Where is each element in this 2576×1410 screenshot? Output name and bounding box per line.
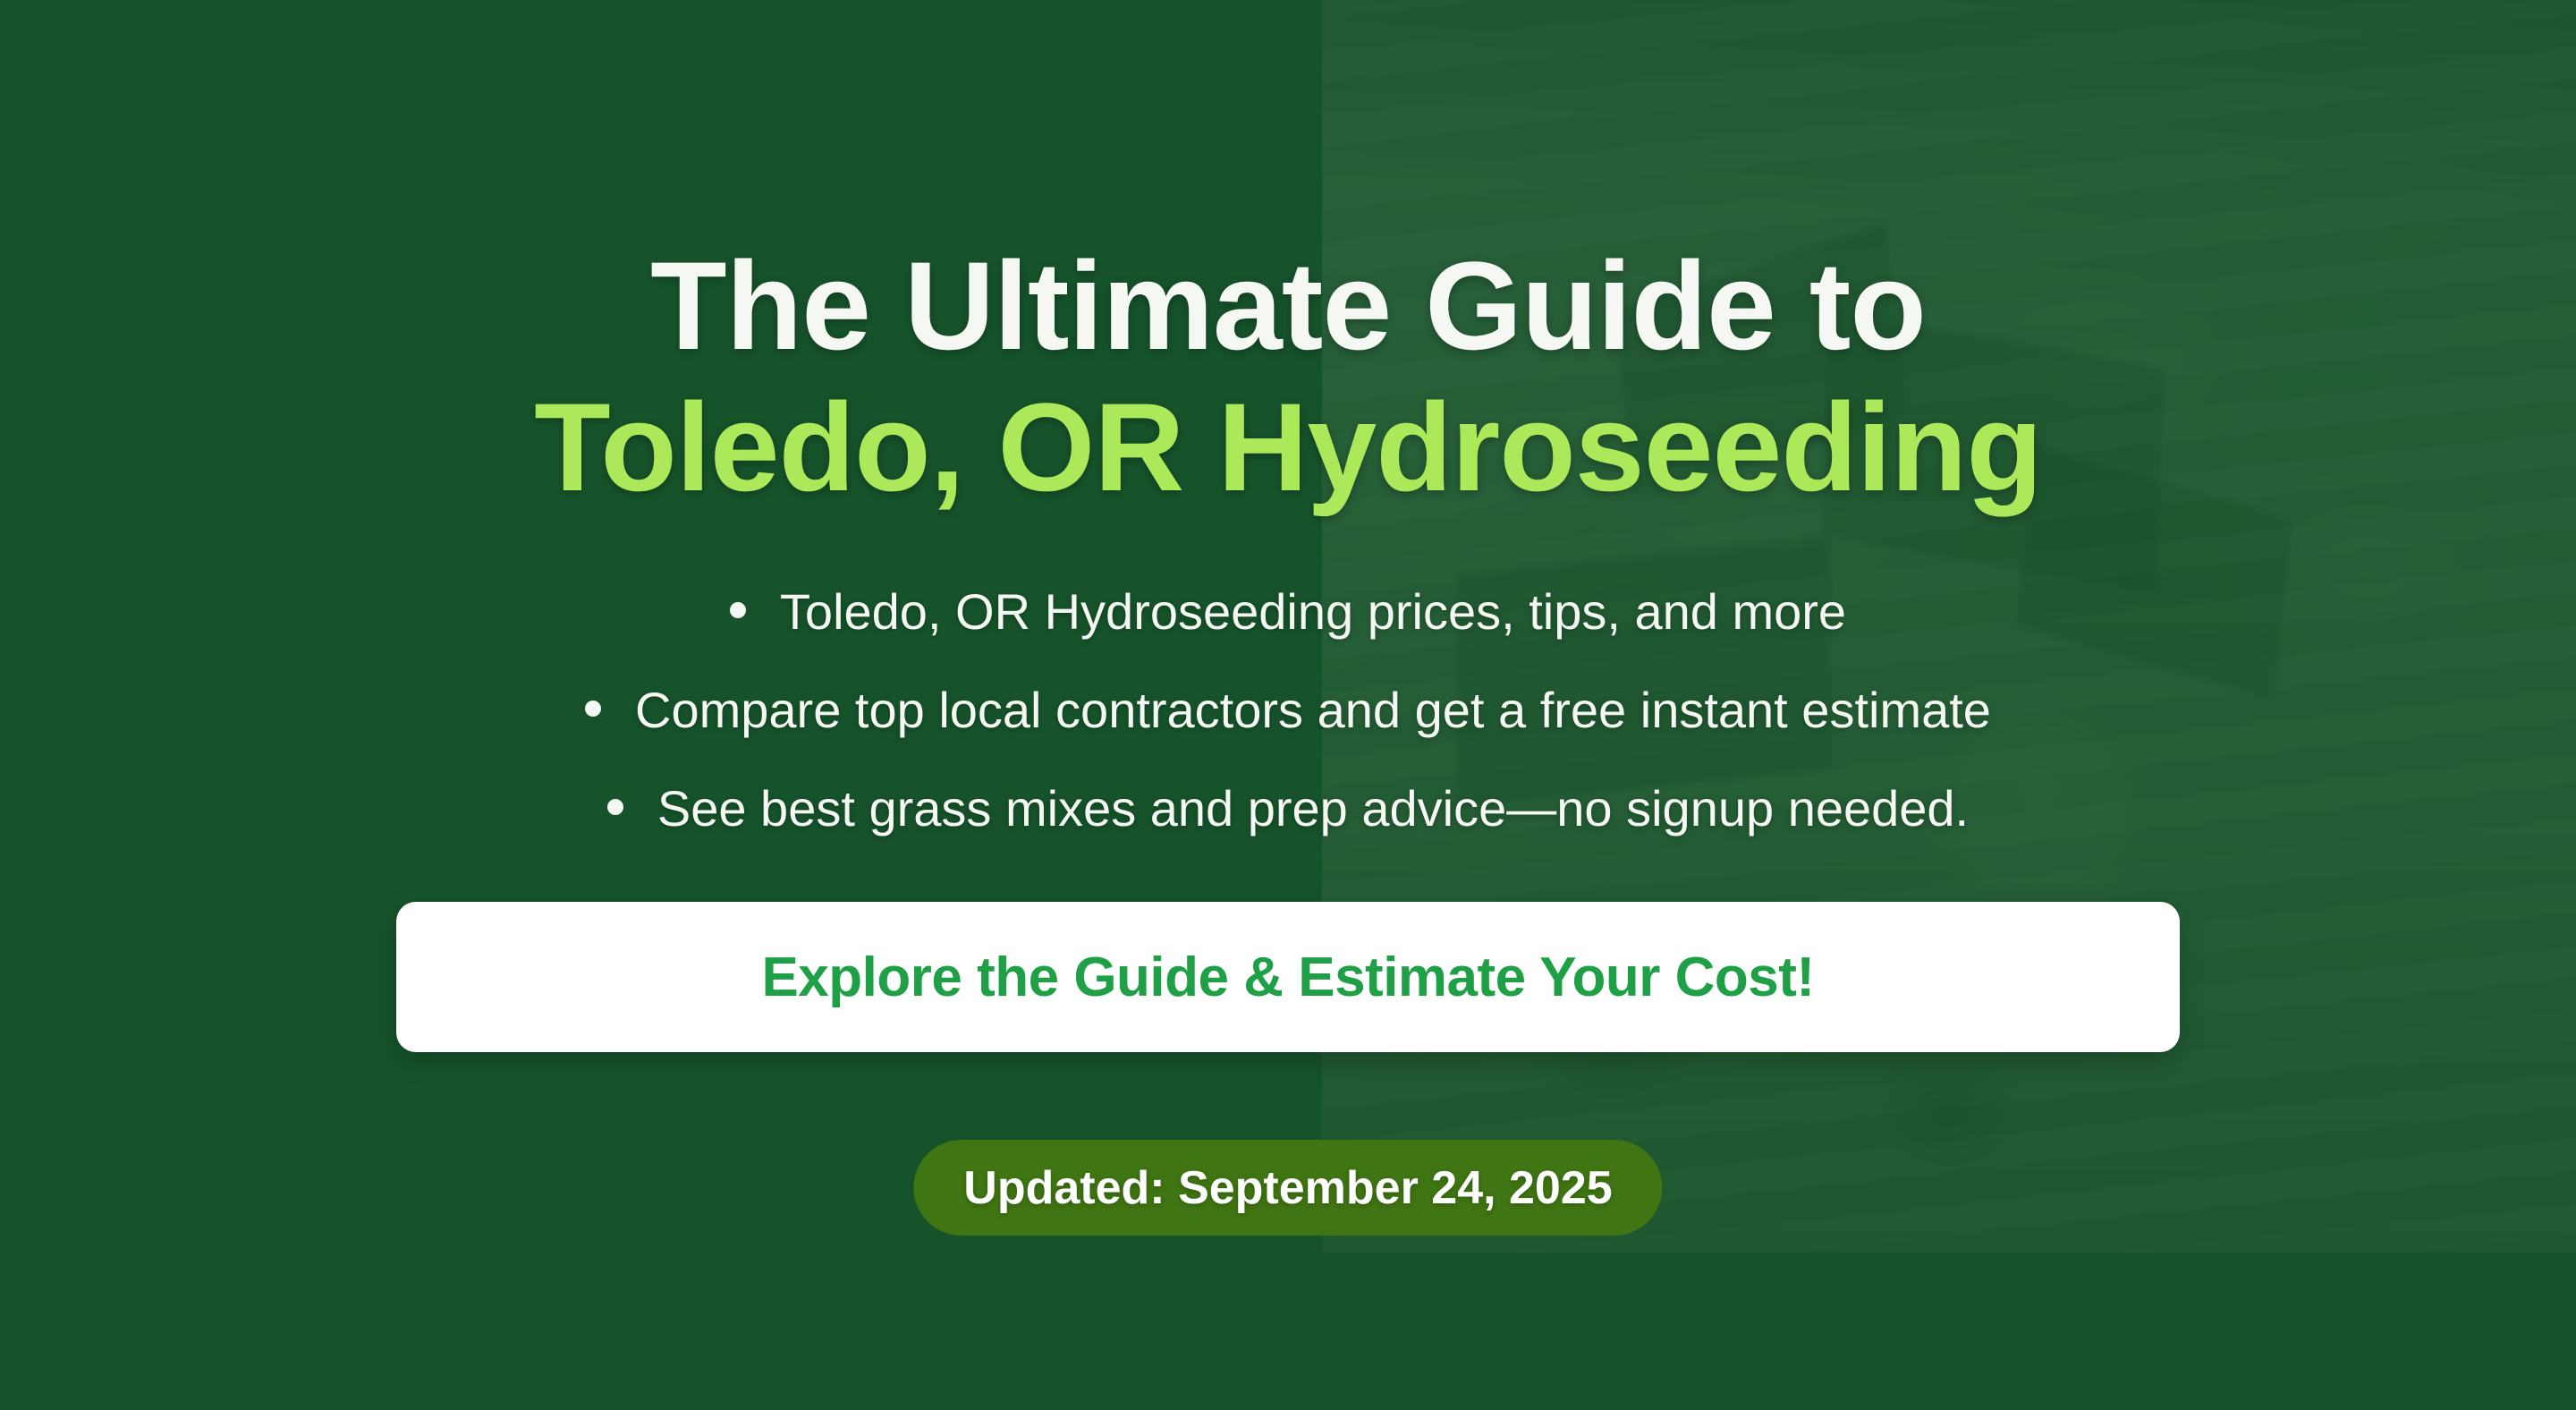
bullet-text: Compare top local contractors and get a … — [635, 682, 1991, 738]
updated-date-badge: Updated: September 24, 2025 — [913, 1140, 1662, 1236]
page-title: The Ultimate Guide to Toledo, OR Hydrose… — [0, 243, 2576, 510]
title-line-1: The Ultimate Guide to — [650, 235, 1926, 376]
updated-date-label: Updated: September 24, 2025 — [963, 1161, 1612, 1215]
title-line-2: Toledo, OR Hydroseeding — [0, 385, 2576, 510]
bullet-dot-icon — [585, 701, 601, 717]
feature-bullet-list: Toledo, OR Hydroseeding prices, tips, an… — [0, 586, 2576, 880]
bullet-dot-icon — [607, 799, 623, 815]
bullet-text: See best grass mixes and prep advice—no … — [657, 780, 1969, 837]
list-item: Compare top local contractors and get a … — [0, 684, 2576, 737]
banner-content: The Ultimate Guide to Toledo, OR Hydrose… — [0, 0, 2576, 1410]
list-item: Toledo, OR Hydroseeding prices, tips, an… — [0, 586, 2576, 639]
bullet-text: Toledo, OR Hydroseeding prices, tips, an… — [780, 583, 1846, 640]
hero-banner: The Ultimate Guide to Toledo, OR Hydrose… — [0, 0, 2576, 1410]
explore-guide-cta-button[interactable]: Explore the Guide & Estimate Your Cost! — [396, 902, 2180, 1052]
cta-button-label: Explore the Guide & Estimate Your Cost! — [761, 946, 1814, 1009]
bullet-dot-icon — [730, 602, 746, 618]
list-item: See best grass mixes and prep advice—no … — [0, 783, 2576, 836]
